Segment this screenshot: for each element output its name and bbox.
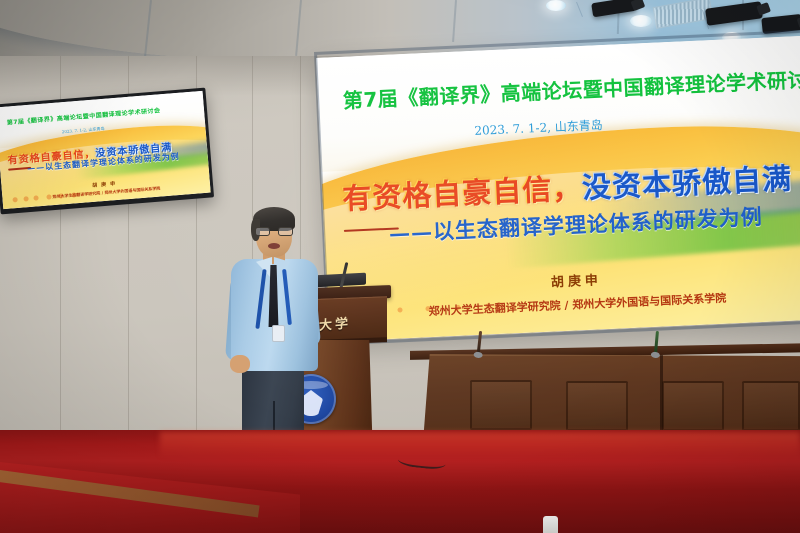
carpet-light-glow bbox=[160, 432, 800, 458]
conference-photo: 第7届《翻译界》高端论坛暨中国翻译理论学术研讨会 2023. 7. 1-2, 山… bbox=[0, 0, 800, 533]
presenter-hand bbox=[230, 355, 250, 373]
table-panel-inset bbox=[662, 381, 724, 431]
side-slide: 第7届《翻译界》高端论坛暨中国翻译理论学术研讨会 2023. 7. 1-2, 山… bbox=[0, 91, 211, 209]
glasses-icon bbox=[255, 227, 293, 236]
presenter-mouth bbox=[268, 243, 280, 249]
name-badge bbox=[272, 325, 285, 342]
ceiling-downlight bbox=[630, 15, 652, 27]
table-panel-inset bbox=[742, 381, 800, 431]
table-panel-inset bbox=[566, 381, 628, 431]
water-bottle bbox=[543, 516, 558, 533]
ceiling-downlight bbox=[546, 0, 566, 11]
side-monitor: 第7届《翻译界》高端论坛暨中国翻译理论学术研讨会 2023. 7. 1-2, 山… bbox=[0, 88, 214, 215]
table-panel-inset bbox=[470, 380, 532, 430]
side-monitor-screen: 第7届《翻译界》高端论坛暨中国翻译理论学术研讨会 2023. 7. 1-2, 山… bbox=[0, 91, 211, 209]
